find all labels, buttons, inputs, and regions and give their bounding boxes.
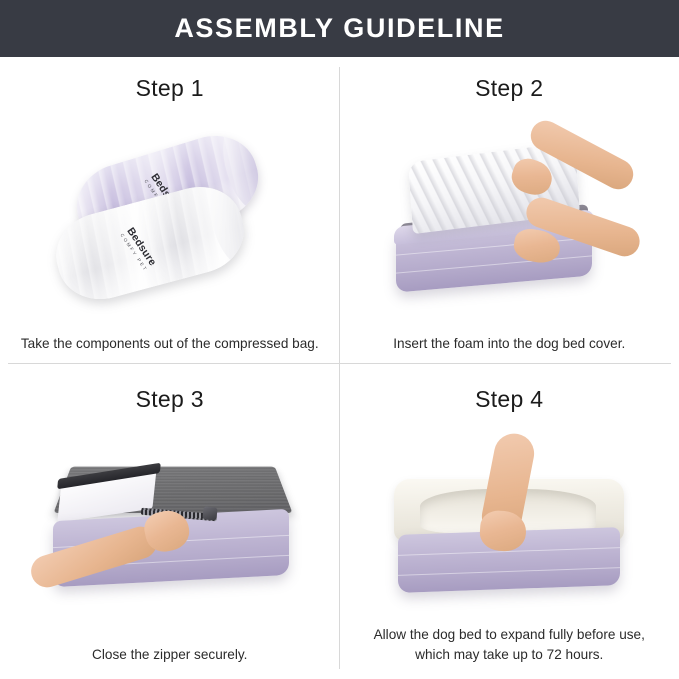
step-card-2: Step 2 Insert the foam into the dog b (340, 57, 679, 368)
bed-seam-line (398, 567, 620, 576)
step-2-illustration (356, 106, 664, 334)
step-1-caption: Take the components out of the compresse… (21, 334, 319, 358)
bed-seam-line (396, 255, 592, 273)
step-1-illustration: Bedsure COMFY PET Bedsure COMFY PET (16, 106, 324, 334)
step-card-3: Step 3 Close the zipper securely. (0, 368, 340, 679)
steps-grid: Step 1 Bedsure COMFY PET (0, 57, 679, 679)
step-2-title: Step 2 (475, 75, 543, 102)
step-card-1: Step 1 Bedsure COMFY PET (0, 57, 340, 368)
step-4-caption: Allow the dog bed to expand fully before… (359, 625, 659, 669)
step-2-caption: Insert the foam into the dog bed cover. (393, 334, 625, 358)
step-3-title: Step 3 (136, 386, 204, 413)
step-4-title: Step 4 (475, 386, 543, 413)
step-card-4: Step 4 Allow the dog bed to expand fully… (340, 368, 679, 679)
vertical-divider (339, 67, 340, 669)
horizontal-divider (8, 363, 671, 364)
step-3-illustration (16, 417, 324, 645)
step-3-caption: Close the zipper securely. (92, 645, 247, 669)
header-banner: ASSEMBLY GUIDELINE (0, 0, 679, 57)
zipper-slider (202, 506, 217, 520)
assembly-guideline-infographic: ASSEMBLY GUIDELINE Step 1 Bedsure COMFY … (0, 0, 679, 679)
step-4-illustration (356, 417, 664, 625)
step-1-title: Step 1 (136, 75, 204, 102)
page-title: ASSEMBLY GUIDELINE (174, 13, 504, 44)
